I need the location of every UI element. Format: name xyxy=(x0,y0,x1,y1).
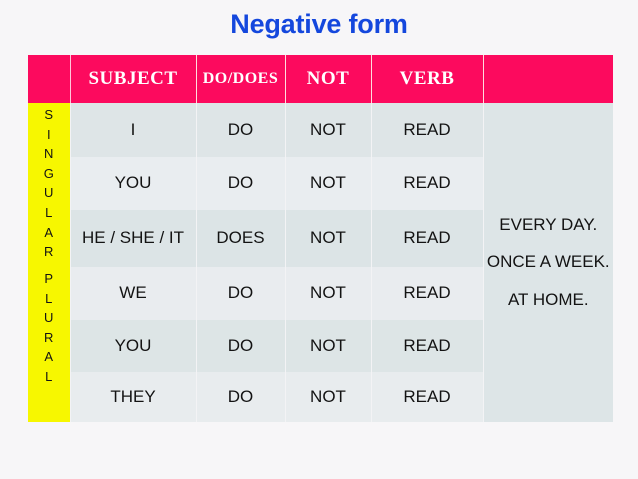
cell-not: NOT xyxy=(285,103,371,157)
cell-not: NOT xyxy=(285,157,371,210)
cell-verb: READ xyxy=(371,320,483,372)
number-label-letter: U xyxy=(28,308,70,328)
cell-verb: READ xyxy=(371,103,483,157)
cell-subject: YOU xyxy=(70,157,196,210)
negative-form-table: SUBJECT DO/DOES NOT VERB SINGULAR I DO N… xyxy=(28,55,613,422)
number-label-letter: S xyxy=(28,105,70,125)
number-label-letter: R xyxy=(28,242,70,262)
cell-not: NOT xyxy=(285,372,371,422)
number-label-singular: SINGULAR xyxy=(28,103,70,267)
cell-complement: EVERY DAY. ONCE A WEEK. AT HOME. xyxy=(483,103,613,422)
number-label-letter: R xyxy=(28,328,70,348)
header-not: NOT xyxy=(285,55,371,103)
cell-verb: READ xyxy=(371,157,483,210)
cell-not: NOT xyxy=(285,320,371,372)
number-label-letter: L xyxy=(28,367,70,387)
header-subject: SUBJECT xyxy=(70,55,196,103)
cell-aux: DO xyxy=(196,320,285,372)
table-header-row: SUBJECT DO/DOES NOT VERB xyxy=(28,55,613,103)
cell-aux: DO xyxy=(196,267,285,320)
cell-subject: I xyxy=(70,103,196,157)
cell-subject: YOU xyxy=(70,320,196,372)
cell-verb: READ xyxy=(371,372,483,422)
page-title: Negative form xyxy=(0,9,638,40)
header-verb: VERB xyxy=(371,55,483,103)
number-label-letter: L xyxy=(28,289,70,309)
number-label-letter: U xyxy=(28,183,70,203)
table-row: SINGULAR I DO NOT READ EVERY DAY. ONCE A… xyxy=(28,103,613,157)
complement-line: EVERY DAY. xyxy=(484,215,614,235)
number-label-letter: N xyxy=(28,144,70,164)
complement-line: AT HOME. xyxy=(484,290,614,310)
number-label-letter: L xyxy=(28,203,70,223)
cell-not: NOT xyxy=(285,267,371,320)
cell-verb: READ xyxy=(371,210,483,267)
cell-verb: READ xyxy=(371,267,483,320)
cell-subject: HE / SHE / IT xyxy=(70,210,196,267)
number-label-letter: A xyxy=(28,347,70,367)
cell-aux: DO xyxy=(196,157,285,210)
cell-aux: DOES xyxy=(196,210,285,267)
number-label-plural: PLURAL xyxy=(28,267,70,422)
complement-line: ONCE A WEEK. xyxy=(484,252,614,272)
number-label-letter: G xyxy=(28,164,70,184)
cell-aux: DO xyxy=(196,103,285,157)
number-label-letter: I xyxy=(28,125,70,145)
header-complement xyxy=(483,55,613,103)
cell-not: NOT xyxy=(285,210,371,267)
header-do-does: DO/DOES xyxy=(196,55,285,103)
number-label-letter: A xyxy=(28,223,70,243)
cell-subject: THEY xyxy=(70,372,196,422)
cell-aux: DO xyxy=(196,372,285,422)
header-corner xyxy=(28,55,70,103)
cell-subject: WE xyxy=(70,267,196,320)
number-label-letter: P xyxy=(28,269,70,289)
